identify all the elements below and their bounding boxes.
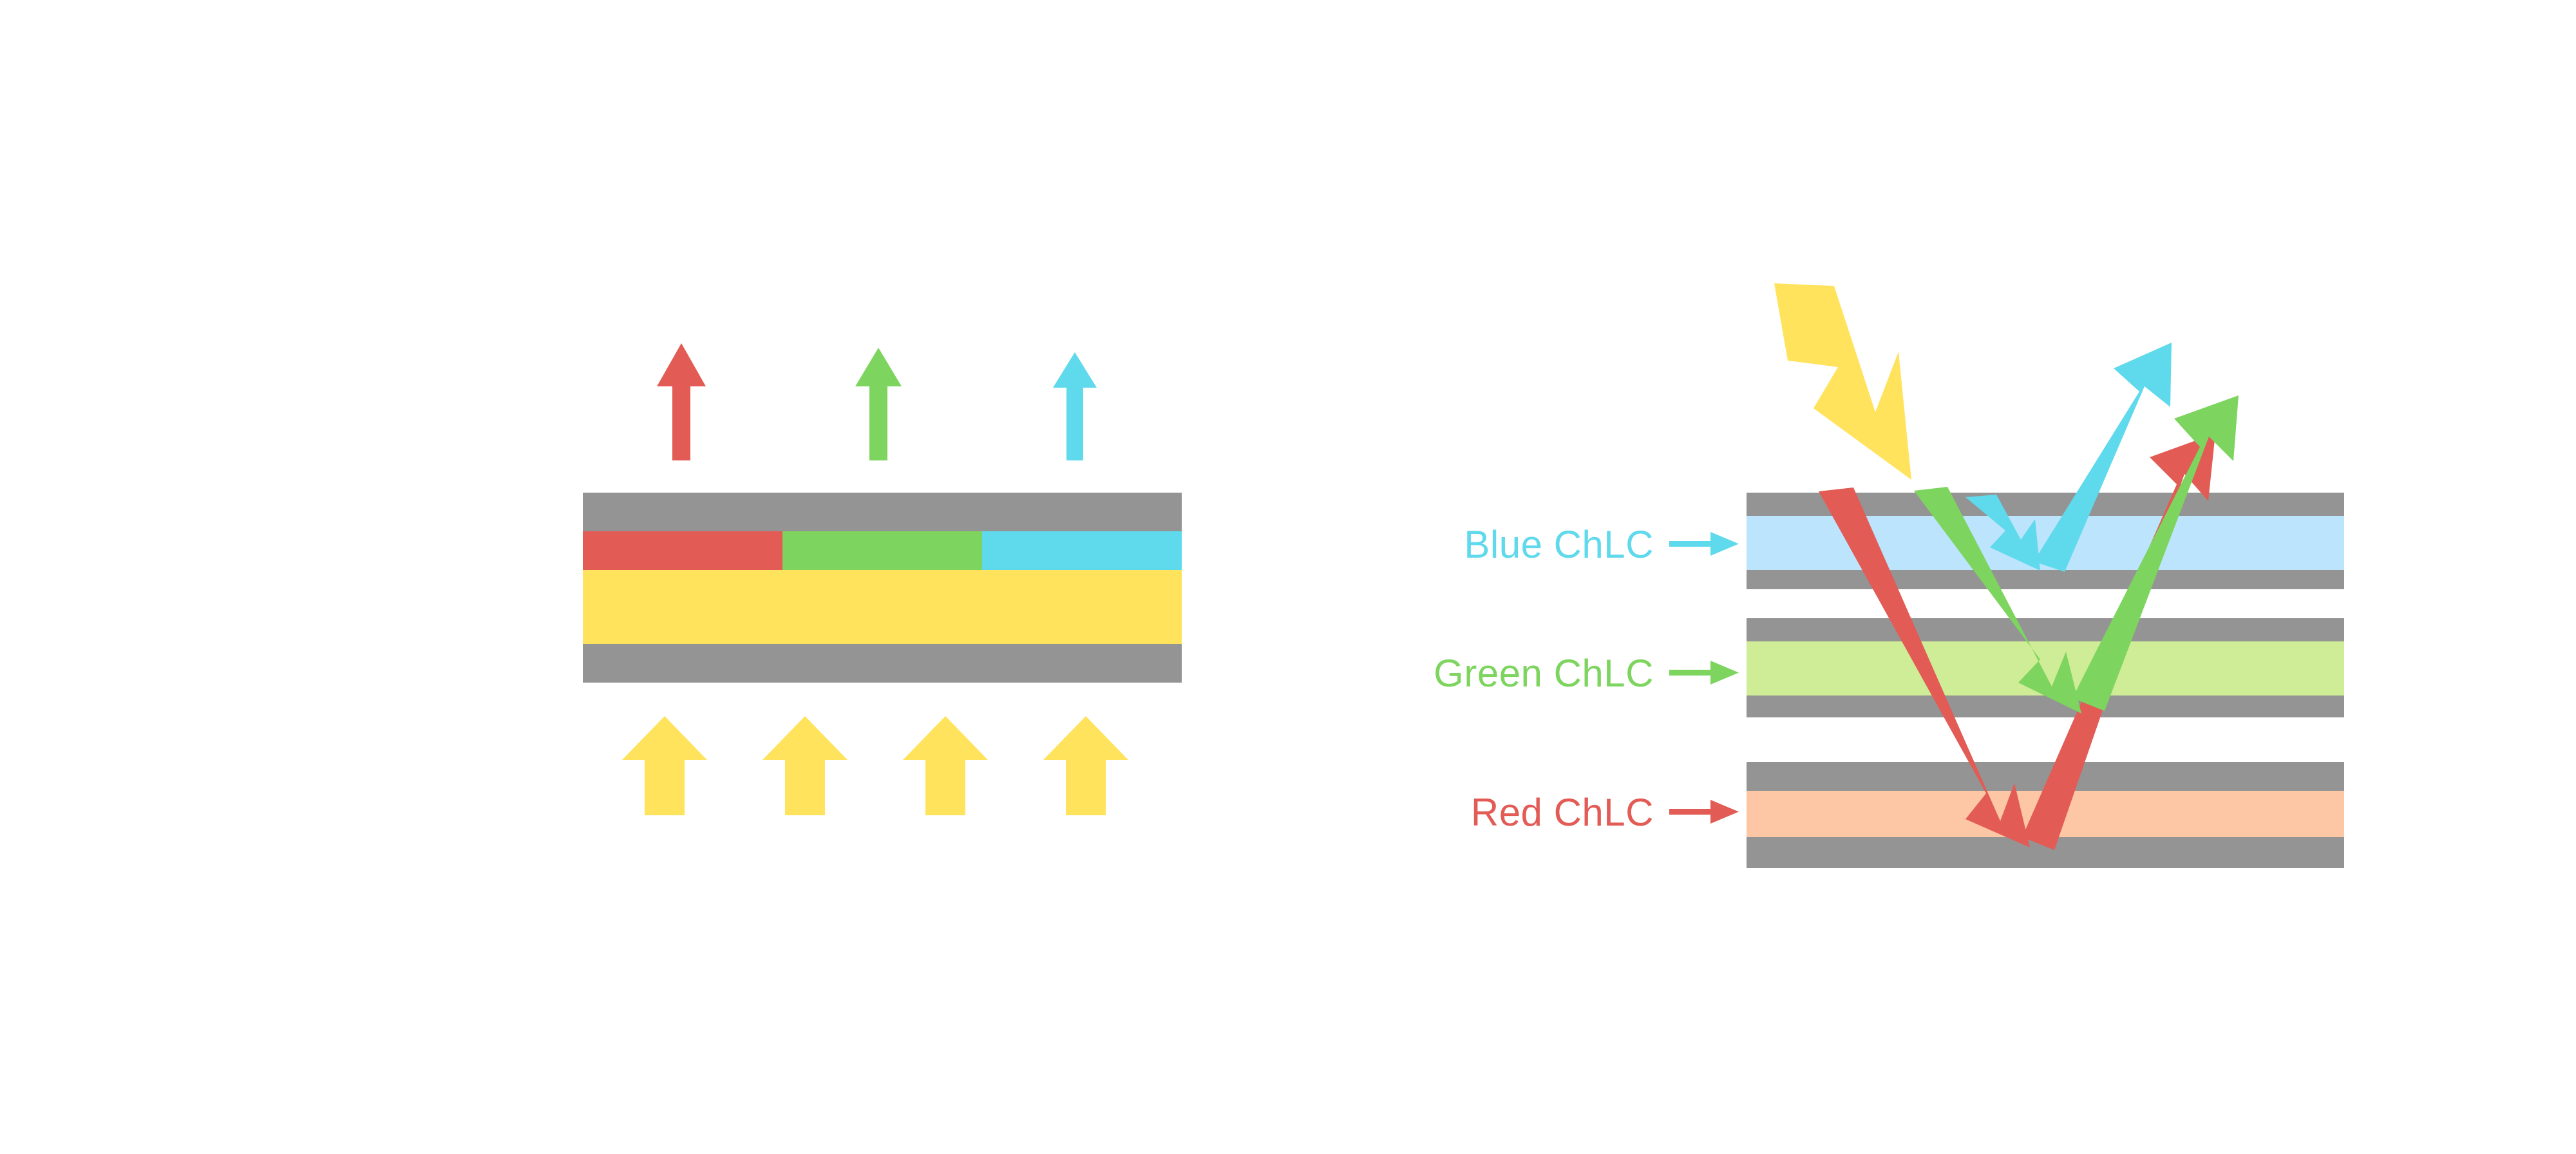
backlight-layer (583, 570, 1182, 644)
blue-emitted-arrow (1053, 352, 1097, 460)
label-green-chlc-arrow-icon (1669, 661, 1739, 685)
red-emitted-arrow (657, 343, 706, 460)
backlight-arrow-3 (903, 716, 988, 815)
blue-filter-segment (982, 531, 1182, 570)
green-cell-bottom-electrode (1747, 695, 2344, 717)
left-panel (583, 343, 1182, 815)
label-green-chlc-text: Green ChLC (1434, 652, 1654, 695)
backlight-arrow-4 (1043, 716, 1128, 815)
label-red-chlc-arrow-icon (1669, 800, 1739, 824)
green-chlc-cell (1747, 618, 2344, 717)
chlc-labels: Blue ChLC Green ChLC Red ChL (1434, 523, 1739, 834)
backlight-arrow-1 (622, 716, 707, 815)
diagram-root: Blue ChLC Green ChLC Red ChL (0, 0, 2576, 1154)
blue-cell-bottom-electrode (1747, 570, 2344, 589)
green-filter-segment (782, 531, 982, 570)
bottom-electrode-layer (583, 644, 1182, 683)
diagram-canvas: Blue ChLC Green ChLC Red ChL (0, 0, 2576, 1154)
label-red-chlc-text: Red ChLC (1471, 791, 1654, 834)
backlight-arrow-2 (762, 716, 848, 815)
green-emitted-arrow (855, 348, 902, 460)
label-blue-chlc-text: Blue ChLC (1464, 523, 1654, 566)
backlight-arrows-group (622, 716, 1128, 815)
label-blue-chlc: Blue ChLC (1464, 523, 1739, 566)
left-stack (583, 493, 1182, 683)
label-red-chlc: Red ChLC (1471, 791, 1739, 834)
label-green-chlc: Green ChLC (1434, 652, 1739, 695)
right-panel: Blue ChLC Green ChLC Red ChL (1434, 283, 2344, 868)
green-cell-top-electrode (1747, 618, 2344, 641)
emitted-arrows-group (657, 343, 1097, 460)
red-filter-segment (583, 531, 782, 570)
label-blue-chlc-arrow-icon (1669, 532, 1739, 556)
incident-white-light-arrow (1774, 283, 1911, 480)
top-electrode-layer (583, 493, 1182, 531)
